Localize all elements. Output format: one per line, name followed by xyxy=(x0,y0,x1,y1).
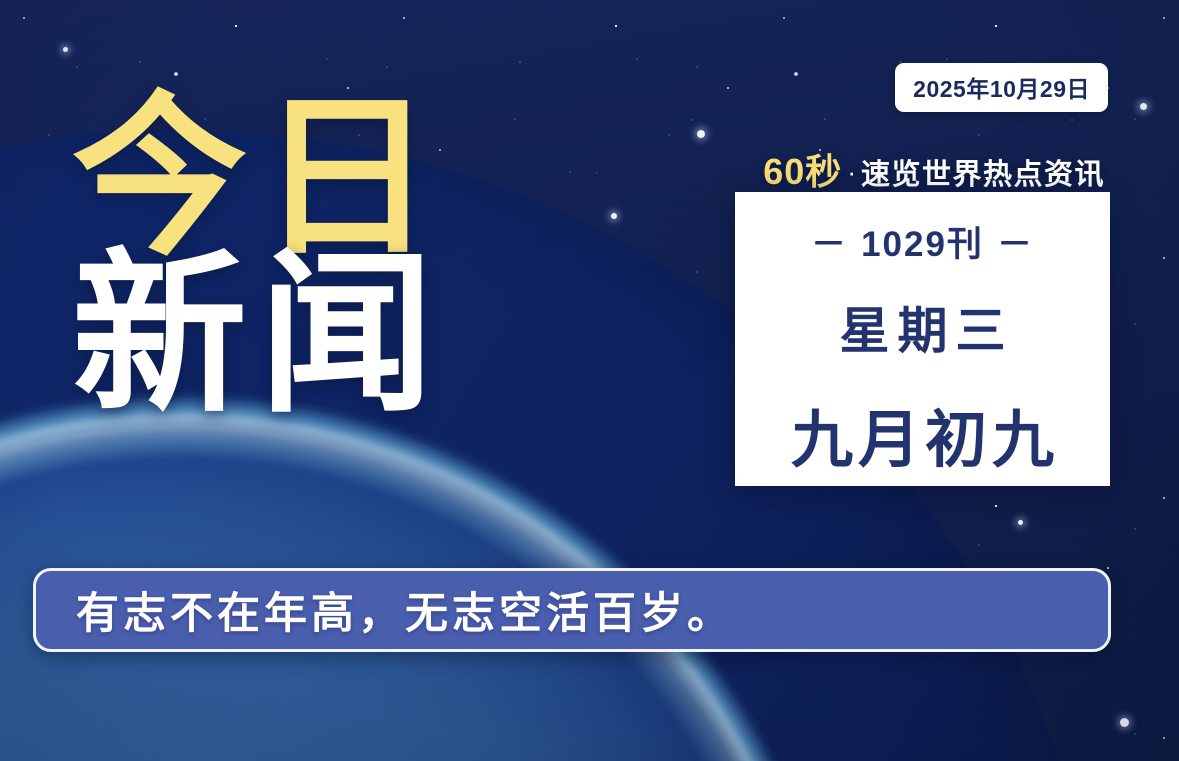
issue-number: 1029刊 xyxy=(861,225,984,264)
date-badge: 2025年10月29日 xyxy=(895,63,1108,112)
news-poster: 2025年10月29日 今日 新闻 60秒·速览世界热点资讯 －1029刊－ 星… xyxy=(0,0,1179,761)
title-line-today: 今日 xyxy=(72,98,446,261)
issue-dash-right: － xyxy=(997,216,1034,267)
tagline: 60秒·速览世界热点资讯 xyxy=(763,143,1105,195)
info-card: －1029刊－ 星期三 九月初九 xyxy=(735,192,1110,486)
issue-dash-left: － xyxy=(811,216,848,267)
quote-banner: 有志不在年高，无志空活百岁。 xyxy=(33,568,1111,652)
weekday-label: 星期三 xyxy=(832,291,1014,363)
tagline-separator: · xyxy=(847,157,856,187)
poster-content: 2025年10月29日 今日 新闻 60秒·速览世界热点资讯 －1029刊－ 星… xyxy=(0,0,1179,761)
lunar-date-label: 九月初九 xyxy=(786,389,1059,479)
issue-number-row: －1029刊－ xyxy=(798,216,1047,267)
quote-text: 有志不在年高，无志空活百岁。 xyxy=(36,579,734,641)
tagline-text: 速览世界热点资讯 xyxy=(861,159,1105,191)
title-line-news: 新闻 xyxy=(72,255,446,418)
poster-title: 今日 新闻 xyxy=(72,98,446,418)
tagline-seconds: 60秒 xyxy=(763,151,842,192)
